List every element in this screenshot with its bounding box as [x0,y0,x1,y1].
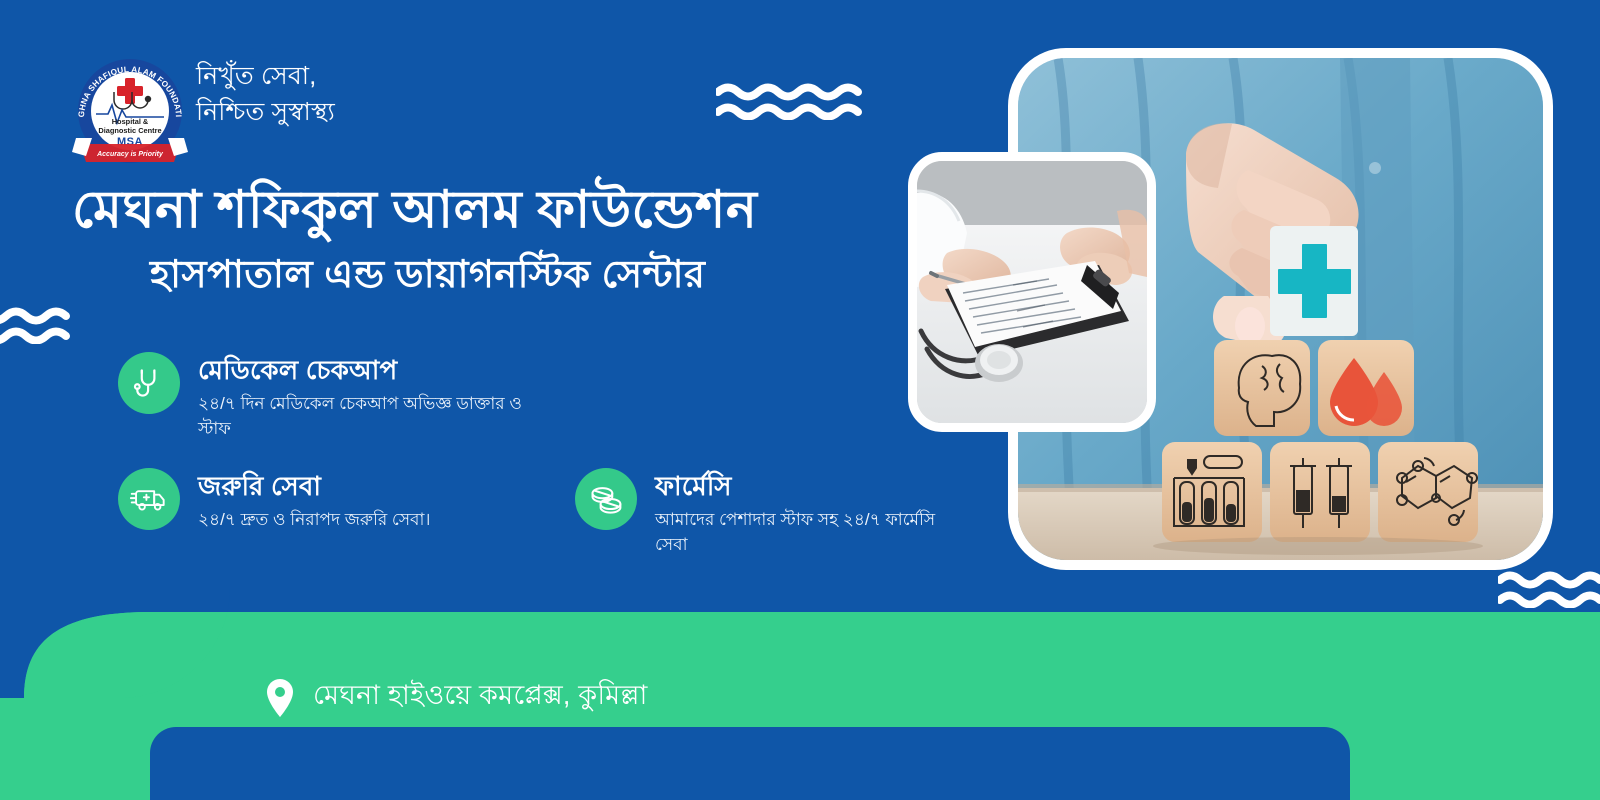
service-title: জরুরি সেবা [198,470,431,503]
pills-icon [575,468,637,530]
location-pin-icon [265,678,295,718]
service-title: ফার্মেসি [655,470,955,503]
blood-block [1318,340,1414,436]
page-subtitle: হাসপাতাল এন্ড ডায়াগনস্টিক সেন্টার [150,253,870,299]
ambulance-icon [118,468,180,530]
brand-tagline: নিখুঁত সেবা, নিশ্চিত সুস্বাস্থ্য [196,59,335,130]
left-edge-waves-icon [0,306,74,344]
syringe-block [1270,442,1370,542]
bottom-blue-plate [150,727,1350,800]
service-description: ২৪/৭ দ্রুত ও নিরাপদ জরুরি সেবা। [198,507,431,533]
logo-line1: Hospital & [112,117,149,126]
cross-block [1270,226,1358,336]
foundation-logo: MEGHNA SHAFIQUL ALAM FOUNDATION Hospital… [70,52,190,170]
brain-block [1214,340,1310,436]
service-description: ২৪/৭ দিন মেডিকেল চেকআপ অভিজ্ঞ ডাক্তার ও … [198,391,528,442]
logo-ribbon-text: Accuracy is Priority [96,151,164,158]
tagline-line-1: নিখুঁত সেবা, [196,59,335,95]
service-title: মেডিকেল চেকআপ [198,354,528,387]
service-pharmacy: ফার্মেসি আমাদের পেশাদার স্টাফ সহ ২৪/৭ ফা… [575,468,955,558]
molecule-block [1378,442,1478,542]
service-emergency: জরুরি সেবা ২৪/৭ দ্রুত ও নিরাপদ জরুরি সেব… [118,468,431,532]
page-title: মেঘনা শফিকুল আলম ফাউন্ডেশন [72,180,872,240]
service-description: আমাদের পেশাদার স্টাফ সহ ২৪/৭ ফার্মেসি সে… [655,507,955,558]
bottom-right-waves-icon [1498,570,1600,608]
logo-line2: Diagnostic Centre [98,126,161,135]
tagline-line-2: নিশ্চিত সুস্বাস্থ্য [196,95,335,131]
banner-root: MEGHNA SHAFIQUL ALAM FOUNDATION Hospital… [0,0,1600,800]
stethoscope-icon [118,352,180,414]
top-center-waves-icon [716,82,876,120]
testtube-block [1162,442,1262,542]
address-block: মেঘনা হাইওয়ে কমপ্লেক্স, কুমিল্লা [265,675,648,720]
address-text: মেঘনা হাইওয়ে কমপ্লেক্স, কুমিল্লা [313,675,648,720]
inset-photo [908,152,1156,432]
service-medical-checkup: মেডিকেল চেকআপ ২৪/৭ দিন মেডিকেল চেকআপ অভি… [118,352,528,442]
